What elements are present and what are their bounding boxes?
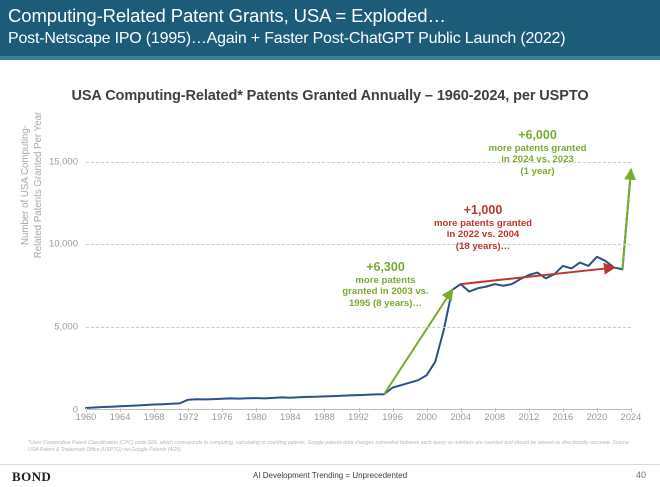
arrow-2023-2024 <box>622 170 631 269</box>
y-axis-tick-label: 5,000 <box>32 322 78 333</box>
annotation-2022-line-2: in 2022 vs. 2004 <box>398 229 568 241</box>
x-axis-tick-label: 2016 <box>553 412 574 422</box>
y-axis-tick-label: 15,000 <box>32 156 78 167</box>
x-axis-tick-label: 1992 <box>348 412 369 422</box>
x-axis-tick-label: 2020 <box>587 412 608 422</box>
x-axis-tick-label: 1976 <box>212 412 233 422</box>
annotation-2003-line-3: 1995 (8 years)… <box>313 298 458 310</box>
chart-container: USA Computing-Related* Patents Granted A… <box>0 60 660 430</box>
x-axis-tick-label: 1964 <box>110 412 131 422</box>
annotation-2022-line-1: more patents granted <box>398 218 568 230</box>
x-axis-tick-label: 2008 <box>484 412 505 422</box>
annotation-2024-value: +6,000 <box>455 130 620 142</box>
x-axis-tick-label: 2000 <box>416 412 437 422</box>
header-title-line-2: Post-Netscape IPO (1995)…Again + Faster … <box>8 28 660 50</box>
x-axis-tick-label: 1972 <box>178 412 199 422</box>
x-axis-tick-label: 1988 <box>314 412 335 422</box>
annotation-2003-value: +6,300 <box>313 262 458 274</box>
x-axis-tick-label: 1980 <box>246 412 267 422</box>
annotation-2003-line-2: granted in 2003 vs. <box>313 286 458 298</box>
y-axis-tick-label: 0 <box>32 405 78 416</box>
x-axis-tick-label: 1960 <box>76 412 97 422</box>
arrow-2004-2022 <box>461 268 614 285</box>
footer-caption: AI Development Trending = Unprecedented <box>0 471 660 480</box>
annotation-2022: +1,000 more patents granted in 2022 vs. … <box>398 205 568 252</box>
annotation-2024-line-1: more patents granted <box>455 143 620 155</box>
x-axis-tick-label: 2004 <box>450 412 471 422</box>
page-number: 40 <box>636 470 646 480</box>
chart-footnote: *Uses Cooperative Patent Classification … <box>28 440 640 455</box>
header-title-line-1: Computing-Related Patent Grants, USA = E… <box>8 3 660 28</box>
annotation-2003-line-1: more patents <box>313 275 458 287</box>
x-axis-tick-label: 2024 <box>621 412 642 422</box>
slide-footer: BOND AI Development Trending = Unprecede… <box>0 465 660 487</box>
annotation-2022-line-3: (18 years)… <box>398 241 568 253</box>
chart-title: USA Computing-Related* Patents Granted A… <box>0 88 660 104</box>
annotation-2003: +6,300 more patents granted in 2003 vs. … <box>313 262 458 309</box>
gridline <box>86 327 631 328</box>
x-axis-tick-labels: 1960196419681972197619801984198819921996… <box>86 412 631 428</box>
annotation-2024: +6,000 more patents granted in 2024 vs. … <box>455 130 620 177</box>
x-axis-tick-label: 1968 <box>144 412 165 422</box>
slide-header: Computing-Related Patent Grants, USA = E… <box>0 0 660 56</box>
y-axis-tick-labels: 05,00010,00015,000 <box>30 145 78 410</box>
x-axis-tick-label: 2012 <box>518 412 539 422</box>
y-axis-tick-label: 10,000 <box>32 239 78 250</box>
x-axis-tick-label: 1996 <box>382 412 403 422</box>
annotation-2024-line-2: in 2024 vs. 2023 <box>455 154 620 166</box>
annotation-2022-value: +1,000 <box>398 205 568 217</box>
annotation-2024-line-3: (1 year) <box>455 166 620 178</box>
x-axis-tick-label: 1984 <box>280 412 301 422</box>
